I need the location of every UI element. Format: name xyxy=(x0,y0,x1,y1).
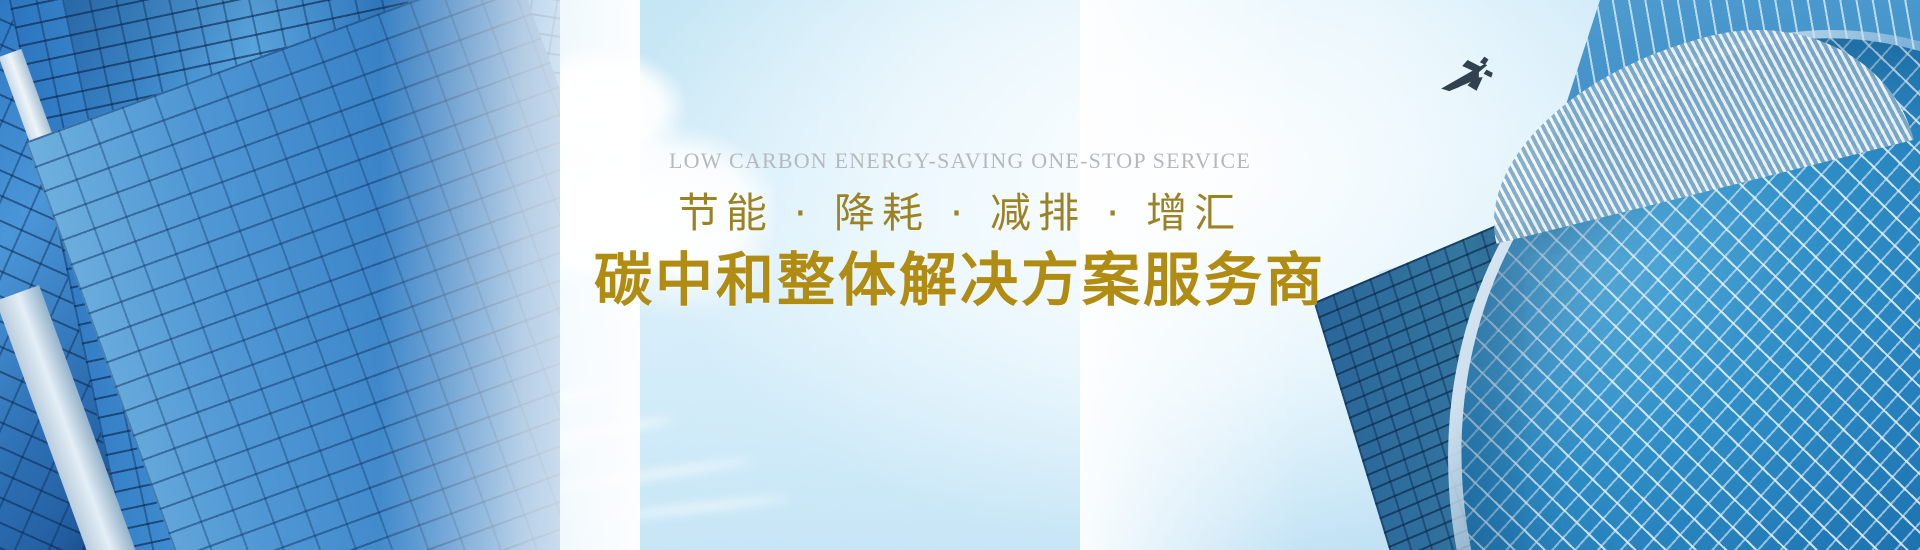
cirrus-streak xyxy=(600,495,790,521)
hero-headline-text: 碳中和整体解决方案服务商 xyxy=(0,247,1920,314)
hero-subtitle-text: 节能 · 降耗 · 减排 · 增汇 xyxy=(0,190,1920,237)
hero-banner: LOW CARBON ENERGY-SAVING ONE-STOP SERVIC… xyxy=(0,0,1920,550)
hero-eyebrow-text: LOW CARBON ENERGY-SAVING ONE-STOP SERVIC… xyxy=(0,150,1920,172)
hero-copy: LOW CARBON ENERGY-SAVING ONE-STOP SERVIC… xyxy=(0,150,1920,314)
